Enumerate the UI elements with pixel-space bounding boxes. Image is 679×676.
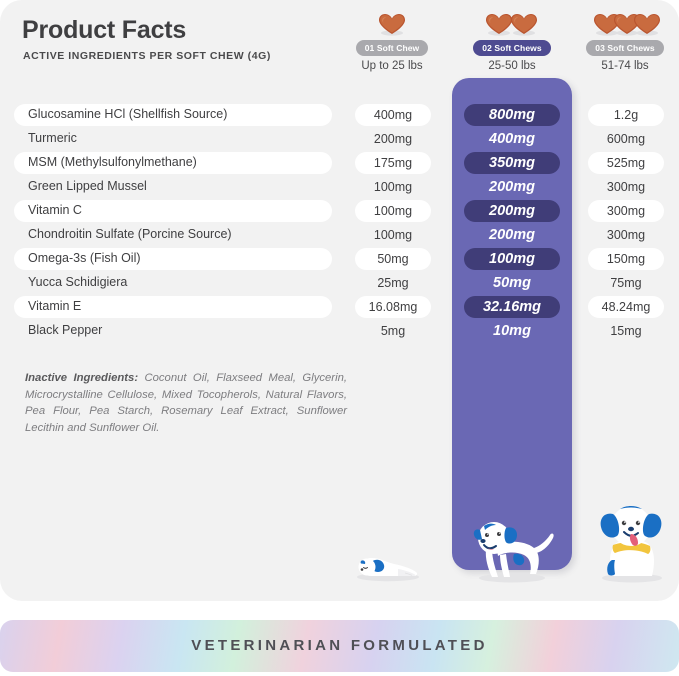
dose-weight-range: 25-50 lbs — [457, 60, 567, 72]
dose-cell-1: 400mg — [355, 104, 431, 126]
dose-cell-3: 300mg — [588, 200, 664, 222]
dose-value: 5mg — [355, 320, 431, 342]
dose-cell-1: 50mg — [355, 248, 431, 270]
ingredient-cell: Turmeric — [14, 128, 332, 150]
ingredient-cell: Chondroitin Sulfate (Porcine Source) — [14, 224, 332, 246]
sitting-dog-illustration — [594, 498, 670, 584]
dose-cell-3: 48.24mg — [588, 296, 664, 318]
heart-chew-icon — [509, 12, 539, 37]
dose-cell-3: 150mg — [588, 248, 664, 270]
dose-value: 200mg — [355, 128, 431, 150]
dose-cell-3: 525mg — [588, 152, 664, 174]
chew-icons-1 — [337, 8, 447, 38]
ingredient-name: Chondroitin Sulfate (Porcine Source) — [28, 227, 232, 241]
table-row: Green Lipped Mussel100mg200mg300mg — [0, 175, 679, 199]
sleeping-puppy-illustration — [352, 536, 424, 582]
dose-value: 175mg — [355, 152, 431, 174]
product-facts-panel: Product Facts ACTIVE INGREDIENTS PER SOF… — [0, 0, 679, 676]
dose-value: 300mg — [588, 176, 664, 198]
dose-value: 200mg — [464, 224, 560, 246]
dose-badge: 01 Soft Chew — [356, 40, 429, 56]
table-row: Glucosamine HCl (Shellfish Source)400mg8… — [0, 103, 679, 127]
dose-cell-1: 200mg — [355, 128, 431, 150]
dose-cell-3: 300mg — [588, 176, 664, 198]
dose-cell-1: 16.08mg — [355, 296, 431, 318]
page-title: Product Facts — [22, 16, 186, 45]
dose-column-header-2[interactable]: 02 Soft Chews 25-50 lbs — [457, 8, 567, 72]
inactive-ingredients: Inactive Ingredients: Coconut Oil, Flaxs… — [25, 370, 347, 436]
dose-cell-1: 100mg — [355, 176, 431, 198]
dose-value: 50mg — [355, 248, 431, 270]
dose-value: 800mg — [464, 104, 560, 126]
table-row: Omega-3s (Fish Oil)50mg100mg150mg — [0, 247, 679, 271]
dose-cell-3: 15mg — [588, 320, 664, 342]
dose-cell-1: 25mg — [355, 272, 431, 294]
dose-value: 25mg — [355, 272, 431, 294]
dose-weight-range: 51-74 lbs — [570, 60, 679, 72]
dose-value: 100mg — [355, 176, 431, 198]
table-row: MSM (Methylsulfonylmethane)175mg350mg525… — [0, 151, 679, 175]
ingredient-cell: Omega-3s (Fish Oil) — [14, 248, 332, 270]
dose-value: 150mg — [588, 248, 664, 270]
page-subtitle: ACTIVE INGREDIENTS PER SOFT CHEW (4G) — [23, 50, 271, 62]
ingredient-cell: Green Lipped Mussel — [14, 176, 332, 198]
veterinarian-formulated-banner: VETERINARIAN FORMULATED — [0, 620, 679, 672]
dose-cell-1: 175mg — [355, 152, 431, 174]
dose-value: 16.08mg — [355, 296, 431, 318]
dose-cell-2: 100mg — [464, 248, 560, 270]
dose-column-header-3[interactable]: 03 Soft Chews 51-74 lbs — [570, 8, 679, 72]
dose-cell-2: 800mg — [464, 104, 560, 126]
dose-cell-2: 200mg — [464, 200, 560, 222]
ingredient-cell: MSM (Methylsulfonylmethane) — [14, 152, 332, 174]
dose-value: 350mg — [464, 152, 560, 174]
dose-value: 200mg — [464, 200, 560, 222]
ingredient-cell: Vitamin E — [14, 296, 332, 318]
dose-value: 100mg — [464, 248, 560, 270]
ingredients-table: Glucosamine HCl (Shellfish Source)400mg8… — [0, 103, 679, 343]
table-row: Yucca Schidigiera25mg50mg75mg — [0, 271, 679, 295]
dose-value: 15mg — [588, 320, 664, 342]
dose-value: 10mg — [464, 320, 560, 342]
heart-chew-icon — [377, 12, 407, 37]
dose-cell-3: 1.2g — [588, 104, 664, 126]
table-row: Vitamin C100mg200mg300mg — [0, 199, 679, 223]
dose-cell-2: 32.16mg — [464, 296, 560, 318]
table-row: Vitamin E16.08mg32.16mg48.24mg — [0, 295, 679, 319]
dose-value: 400mg — [355, 104, 431, 126]
dose-badge-active: 02 Soft Chews — [473, 40, 550, 56]
dose-value: 48.24mg — [588, 296, 664, 318]
table-row: Black Pepper5mg10mg15mg — [0, 319, 679, 343]
dose-value: 400mg — [464, 128, 560, 150]
ingredient-name: Vitamin C — [28, 203, 82, 217]
chew-icons-3 — [570, 8, 679, 38]
dose-cell-3: 75mg — [588, 272, 664, 294]
dose-cell-2: 50mg — [464, 272, 560, 294]
dose-cell-1: 5mg — [355, 320, 431, 342]
dose-value: 50mg — [464, 272, 560, 294]
ingredient-name: Turmeric — [28, 131, 77, 145]
dose-value: 32.16mg — [464, 296, 560, 318]
dose-badge: 03 Soft Chews — [586, 40, 663, 56]
dose-value: 200mg — [464, 176, 560, 198]
dose-cell-2: 200mg — [464, 224, 560, 246]
ingredient-name: Green Lipped Mussel — [28, 179, 147, 193]
dose-cell-2: 200mg — [464, 176, 560, 198]
dose-column-header-1[interactable]: 01 Soft Chew Up to 25 lbs — [337, 8, 447, 72]
standing-dog-illustration — [466, 508, 558, 584]
dose-value: 600mg — [588, 128, 664, 150]
dose-cell-3: 600mg — [588, 128, 664, 150]
ingredient-name: Yucca Schidigiera — [28, 275, 127, 289]
dose-value: 525mg — [588, 152, 664, 174]
ingredient-name: Glucosamine HCl (Shellfish Source) — [28, 107, 227, 121]
ingredient-name: Omega-3s (Fish Oil) — [28, 251, 141, 265]
ingredient-name: MSM (Methylsulfonylmethane) — [28, 155, 197, 169]
ingredient-cell: Vitamin C — [14, 200, 332, 222]
dose-value: 1.2g — [588, 104, 664, 126]
table-row: Turmeric200mg400mg600mg — [0, 127, 679, 151]
dose-cell-1: 100mg — [355, 200, 431, 222]
dose-value: 300mg — [588, 200, 664, 222]
heart-chew-icon — [632, 12, 662, 37]
ingredient-cell: Yucca Schidigiera — [14, 272, 332, 294]
ingredient-name: Black Pepper — [28, 323, 102, 337]
facts-card: Product Facts ACTIVE INGREDIENTS PER SOF… — [0, 0, 679, 601]
ingredient-cell: Black Pepper — [14, 320, 332, 342]
inactive-ingredients-label: Inactive Ingredients: — [25, 372, 138, 384]
dose-cell-2: 10mg — [464, 320, 560, 342]
banner-text: VETERINARIAN FORMULATED — [0, 620, 679, 672]
dose-value: 300mg — [588, 224, 664, 246]
dose-weight-range: Up to 25 lbs — [337, 60, 447, 72]
ingredient-cell: Glucosamine HCl (Shellfish Source) — [14, 104, 332, 126]
dose-value: 100mg — [355, 224, 431, 246]
dose-cell-2: 400mg — [464, 128, 560, 150]
ingredient-name: Vitamin E — [28, 299, 81, 313]
chew-icons-2 — [457, 8, 567, 38]
dose-value: 100mg — [355, 200, 431, 222]
dose-value: 75mg — [588, 272, 664, 294]
table-row: Chondroitin Sulfate (Porcine Source)100m… — [0, 223, 679, 247]
dose-cell-2: 350mg — [464, 152, 560, 174]
dose-cell-3: 300mg — [588, 224, 664, 246]
dose-cell-1: 100mg — [355, 224, 431, 246]
